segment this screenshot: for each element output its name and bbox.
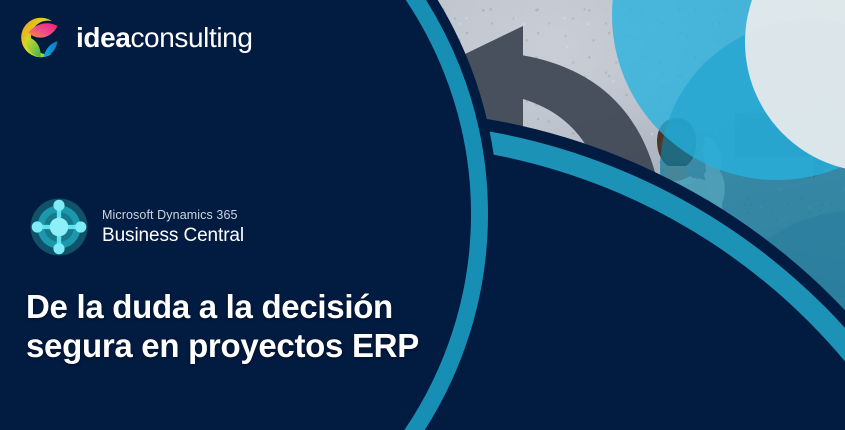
idea-consulting-circle-mark bbox=[18, 14, 65, 61]
page-title: De la duda a la decisión segura en proye… bbox=[26, 288, 419, 365]
brand-name-bold: idea bbox=[76, 22, 130, 53]
marketing-banner: ideaconsulting bbox=[0, 0, 845, 430]
banner-content: ideaconsulting bbox=[0, 0, 845, 430]
brand-logo[interactable]: ideaconsulting bbox=[18, 14, 253, 61]
d365-text-block: Microsoft Dynamics 365 Business Central bbox=[102, 209, 244, 245]
dynamics-365-business-central-logo: Microsoft Dynamics 365 Business Central bbox=[28, 196, 244, 258]
d365-suite-label: Microsoft Dynamics 365 bbox=[102, 209, 244, 222]
business-central-hub-icon bbox=[28, 196, 90, 258]
headline-line-2: segura en proyectos ERP bbox=[26, 327, 419, 366]
brand-name-light: consulting bbox=[130, 22, 252, 53]
d365-product-label: Business Central bbox=[102, 226, 244, 245]
headline-line-1: De la duda a la decisión bbox=[26, 288, 393, 325]
brand-wordmark: ideaconsulting bbox=[76, 24, 253, 52]
